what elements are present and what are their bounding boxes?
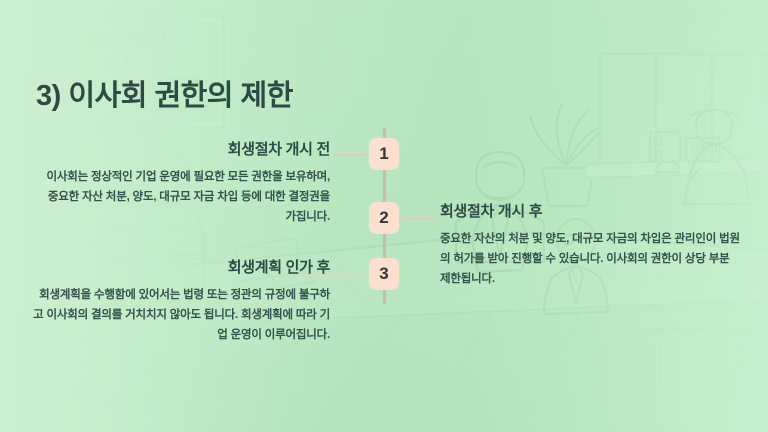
step-2-body: 중요한 자산의 처분 및 양도, 대규모 자금의 차입은 관리인이 법원의 허가… [440,230,740,289]
step-1-heading: 회생절차 개시 전 [36,138,330,159]
page-title: 3) 이사회 권한의 제한 [36,72,293,114]
step-3-body: 회생계획을 수행함에 있어서는 법령 또는 정관의 규정에 불구하고 이사회의 … [30,286,330,345]
slide-root: 3) 이사회 권한의 제한 1 2 3 회생절차 개시 전 이사회는 정상적인 … [0,0,768,432]
step-2-heading: 회생절차 개시 후 [440,200,740,221]
timeline-marker-2[interactable]: 2 [369,202,399,234]
timeline-step-1: 회생절차 개시 전 이사회는 정상적인 기업 운영에 필요한 모든 권한을 보유… [36,138,330,227]
step-1-body: 이사회는 정상적인 기업 운영에 필요한 모든 권한을 보유하며, 중요한 자산… [36,168,330,227]
timeline-marker-3[interactable]: 3 [369,258,399,290]
timeline-marker-1[interactable]: 1 [369,138,399,170]
step-3-heading: 회생계획 인가 후 [30,256,330,277]
timeline-connector-2 [400,218,440,220]
timeline-step-3: 회생계획 인가 후 회생계획을 수행함에 있어서는 법령 또는 정관의 규정에 … [30,256,330,345]
timeline-step-2: 회생절차 개시 후 중요한 자산의 처분 및 양도, 대규모 자금의 차입은 관… [440,200,740,289]
